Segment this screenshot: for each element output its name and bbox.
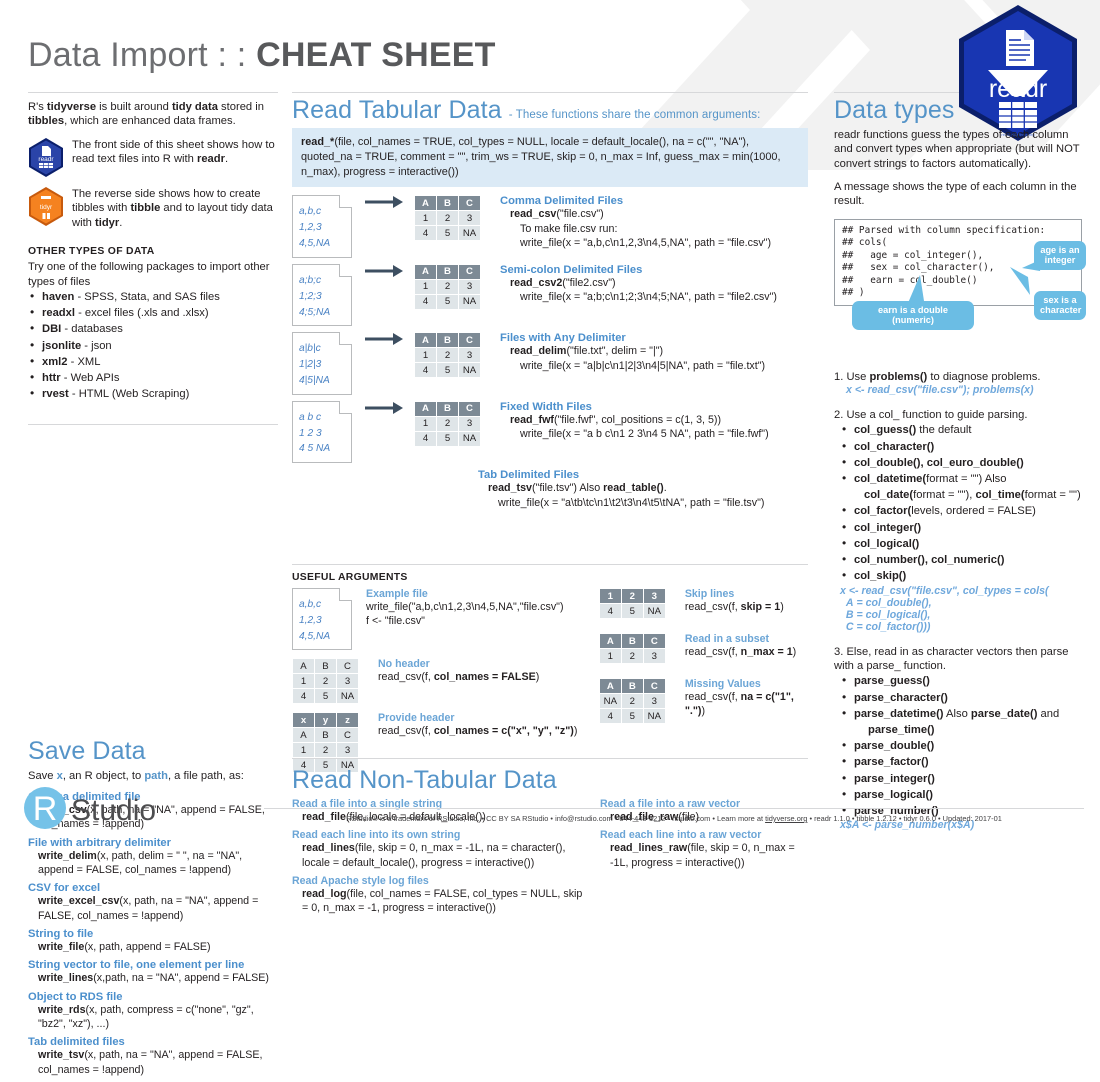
mini-table-header-cell: B <box>437 265 458 279</box>
read-tabular-row-title: Fixed Width Files <box>500 401 808 413</box>
package-desc: - excel files (.xls and .xlsx) <box>75 307 209 319</box>
nontabular-title: Read Apache style log files <box>292 875 590 887</box>
mini-table-cell: 3 <box>459 280 480 294</box>
mini-table-cell: NA <box>337 689 358 703</box>
useful-arguments-heading: USEFUL ARGUMENTS <box>292 572 408 583</box>
read-tabular-row-fn: read_delim("file.txt", delim = "|") <box>500 344 808 358</box>
mini-table-cell: 1 <box>600 649 621 663</box>
mini-table-cell: 3 <box>337 743 358 757</box>
file-line: 1 2 3 <box>299 426 346 442</box>
mini-table-cell: 2 <box>315 674 336 688</box>
footer-link-tidyverse[interactable]: tidyverse.org <box>765 814 807 823</box>
mini-table-cell: 3 <box>337 674 358 688</box>
mini-table-cell: 3 <box>644 694 665 708</box>
parse-fn-name: parse_datetime() <box>854 708 944 720</box>
mini-table-header-cell: y <box>315 713 336 727</box>
arrow-icon <box>364 264 404 278</box>
arrow-icon <box>364 195 404 209</box>
package-desc: - XML <box>68 356 101 368</box>
col-fn-name: col_double(), col_euro_double() <box>854 457 1024 469</box>
save-data-item-label: CSV for excel <box>28 882 278 894</box>
read-tabular-heading: Read Tabular Data - These functions shar… <box>292 96 808 125</box>
mini-table-cell: 5 <box>437 226 458 240</box>
step-2-label: Use a col_ function to guide parsing. <box>846 409 1027 421</box>
parse-fn-name-2: parse_date() <box>971 708 1038 720</box>
read-tabular-row: Tab Delimited Filesread_tsv("file.tsv") … <box>292 469 808 510</box>
data-types-heading: Data types <box>834 96 1082 125</box>
package-name: readxl <box>42 307 75 319</box>
divider-left-top <box>28 92 278 93</box>
col-fn-rest: the default <box>916 424 971 436</box>
mini-table-cell: 1 <box>415 280 436 294</box>
read-tabular-row-extra: write_file(x = "a;b;c\n1;2;3\n4;5;NA", p… <box>500 290 808 304</box>
mini-table-header-cell: B <box>437 333 458 347</box>
parse-fn-item: parse_character() <box>840 690 1082 706</box>
mini-table-cell: 2 <box>315 743 336 757</box>
save-data-item-code: write_file(x, path, append = FALSE) <box>28 940 278 954</box>
divider-save-data <box>28 424 278 425</box>
cheatsheet-page: Data Import : : CHEAT SHEET <box>0 0 1100 850</box>
mini-table-header-cell: A <box>600 634 621 648</box>
save-data-item-code: write_rds(x, path, compress = c("none", … <box>28 1003 278 1032</box>
step-2-code-line: C = col_factor())) <box>840 621 1082 633</box>
mini-table-cell: 3 <box>459 348 480 362</box>
read-tabular-title: Read Tabular Data <box>292 96 502 124</box>
parse-fn-name: parse_double() <box>854 740 934 752</box>
parse-fn-name: parse_factor() <box>854 756 929 768</box>
file-line: 4,5,NA <box>299 236 346 252</box>
save-lead-pre: Save <box>28 770 57 782</box>
page-title-bold: CHEAT SHEET <box>256 36 496 74</box>
col-fn-name: col_datetime( <box>854 473 926 485</box>
step-1-post: to diagnose problems. <box>927 371 1040 383</box>
useful-arg-title: Missing Values <box>685 678 808 690</box>
mini-table-cell: NA <box>600 694 621 708</box>
mini-table: ABCNA2345NA <box>599 678 666 724</box>
useful-arg-code: read_csv(f, skip = 1) <box>685 600 808 614</box>
package-item: DBI - databases <box>28 321 278 337</box>
read-tabular-subtitle: - These functions share the common argum… <box>509 109 761 121</box>
step-1-pre: Use <box>846 371 869 383</box>
callout-sex: sex is a character <box>1034 291 1086 320</box>
col-fn-item: col_skip() <box>840 568 1082 584</box>
package-name: jsonlite <box>42 340 81 352</box>
mini-table-cell: 2 <box>437 280 458 294</box>
mini-table-cell: 2 <box>437 348 458 362</box>
package-name: httr <box>42 372 61 384</box>
mini-table-header-cell: 3 <box>644 589 665 603</box>
save-data-item: CSV for excelwrite_excel_csv(x, path, na… <box>28 882 278 923</box>
mini-table-cell: 1 <box>415 211 436 225</box>
col-fn-name: col_factor( <box>854 505 911 517</box>
read-tabular-row-extra: To make file.csv run: <box>500 222 808 236</box>
parse-fn-item: parse_integer() <box>840 771 1082 787</box>
package-name: haven <box>42 291 74 303</box>
useful-arg-item: ABCNA2345NAMissing Valuesread_csv(f, na … <box>599 678 808 724</box>
mini-table-header-cell: C <box>644 634 665 648</box>
mini-table: ABC12345NA <box>414 401 481 447</box>
mini-table-header-cell: B <box>437 196 458 210</box>
package-desc: - json <box>81 340 111 352</box>
readr-badge-row: readr The front side of this sheet shows… <box>28 137 278 178</box>
arrow-icon <box>364 401 404 415</box>
col-fn-item: col_character() <box>840 439 1082 455</box>
tidyr-badge-text: The reverse side shows how to create tib… <box>72 186 278 231</box>
mini-table-cell: NA <box>644 709 665 723</box>
useful-arg-line: f <- "file.csv" <box>366 614 591 628</box>
rstudio-logo: R Studio <box>22 782 172 834</box>
mini-table-cell: 4 <box>415 295 436 309</box>
page-title-main: Data Import : : <box>28 36 256 74</box>
save-data-item-label: String to file <box>28 928 278 940</box>
col-fn-item: col_integer() <box>840 520 1082 536</box>
mini-table-cell: B <box>315 728 336 742</box>
parse-fn-rest-2: and <box>1037 708 1059 720</box>
nontabular-code: read_log(file, col_names = FALSE, col_ty… <box>292 887 590 916</box>
mini-table-header-cell: B <box>315 659 336 673</box>
mini-table-cell: 3 <box>644 649 665 663</box>
file-icon: a,b,c1,2,34,5,NA <box>292 588 352 650</box>
mini-table-cell: 3 <box>459 417 480 431</box>
col-fn-item: col_logical() <box>840 536 1082 552</box>
callout-earn: earn is a double (numeric) <box>852 301 974 330</box>
col-fn-name: col_logical() <box>854 538 919 550</box>
file-fold-corner <box>339 264 352 277</box>
package-desc: - Web APIs <box>61 372 120 384</box>
package-desc: - HTML (Web Scraping) <box>69 388 190 400</box>
step-1-text: 1. Use problems() to diagnose problems. <box>834 370 1082 384</box>
parse-fn-name: parse_guess() <box>854 675 930 687</box>
save-data-item-code: write_excel_csv(x, path, na = "NA", appe… <box>28 894 278 923</box>
file-line: 1,2,3 <box>299 220 346 236</box>
read-tabular-row-title: Tab Delimited Files <box>478 469 808 481</box>
useful-arg-title: Example file <box>366 588 591 600</box>
mini-table-cell: NA <box>459 432 480 446</box>
read-star-args: (file, col_names = TRUE, col_types = NUL… <box>301 136 780 178</box>
mini-table-cell: 2 <box>622 649 643 663</box>
mini-table-header-cell: C <box>459 402 480 416</box>
mini-table-header-cell: 1 <box>600 589 621 603</box>
step-2-num: 2. <box>834 409 843 421</box>
save-data-heading: Save Data <box>28 737 278 766</box>
left-column: R's tidyverse is built around tidy data … <box>28 100 278 1082</box>
read-tabular-desc: Semi-colon Delimited Filesread_csv2("fil… <box>500 264 808 305</box>
read-tabular-examples: a,b,c1,2,34,5,NAABC12345NAComma Delimite… <box>292 195 808 509</box>
read-tabular-row-extra: write_file(x = "a\tb\tc\n1\t2\t3\n4\t5\t… <box>478 496 808 510</box>
step-1: 1. Use problems() to diagnose problems. … <box>834 370 1082 396</box>
read-tabular-row: a|b|c1|2|34|5|NAABC12345NAFiles with Any… <box>292 332 808 394</box>
step-2-code-line: B = col_logical(), <box>840 609 1082 621</box>
col-fn-item: col_number(), col_numeric() <box>840 552 1082 568</box>
arrow-icon <box>364 332 404 346</box>
step-2-code-line: x <- read_csv("file.csv", col_types = co… <box>840 585 1082 597</box>
page-title: Data Import : : CHEAT SHEET <box>28 36 496 75</box>
read-tabular-desc: Comma Delimited Filesread_csv("file.csv"… <box>500 195 808 250</box>
col-fn-item: col_double(), col_euro_double() <box>840 455 1082 471</box>
other-types-package-list: haven - SPSS, Stata, and SAS filesreadxl… <box>28 289 278 403</box>
useful-arg-item: ABC12345NANo headerread_csv(f, col_names… <box>292 658 591 704</box>
file-icon: a b c1 2 34 5 NA <box>292 401 352 463</box>
mini-table-header-cell: 2 <box>622 589 643 603</box>
parse-fn-name: parse_character() <box>854 692 948 704</box>
mini-table-header-cell: A <box>293 659 314 673</box>
read-tabular-row-extra: write_file(x = "a,b,c\n1,2,3\n4,5,NA", p… <box>500 236 808 250</box>
package-desc: - databases <box>61 323 123 335</box>
mini-table-header-cell: C <box>644 679 665 693</box>
parse-fn-item: parse_double() <box>840 738 1082 754</box>
col-fn-item: col_date(format = ""), col_time(format =… <box>840 487 1082 503</box>
parse-fn-item: parse_datetime() Also parse_date() andpa… <box>840 706 1082 738</box>
col-fn-name: col_guess() <box>854 424 916 436</box>
parse-fn-item: parse_guess() <box>840 673 1082 689</box>
useful-arguments-right: 12345NASkip linesread_csv(f, skip = 1)AB… <box>599 588 808 781</box>
mini-table-cell: 4 <box>415 226 436 240</box>
read-tabular-row: a b c1 2 34 5 NAABC12345NAFixed Width Fi… <box>292 401 808 463</box>
footer-text-b: • readr 1.1.0 • tibble 1.2.12 • tidyr 0.… <box>807 814 1001 823</box>
divider-mid-top <box>292 92 808 93</box>
save-lead-path: path <box>144 770 168 782</box>
save-data-item-label: Tab delimited files <box>28 1036 278 1048</box>
step-2: 2. Use a col_ function to guide parsing.… <box>834 408 1082 633</box>
col-fn-item: col_factor(levels, ordered = FALSE) <box>840 503 1082 519</box>
read-star-signature: read_*(file, col_names = TRUE, col_types… <box>292 128 808 187</box>
mini-table-cell: 4 <box>293 689 314 703</box>
useful-arguments-left: a,b,c1,2,34,5,NAExample filewrite_file("… <box>292 588 591 781</box>
useful-arg-code: read_csv(f, col_names = FALSE) <box>378 670 591 684</box>
mini-table-cell: 5 <box>622 604 643 618</box>
step-2-text: 2. Use a col_ function to guide parsing. <box>834 408 1082 422</box>
mini-table: ABC12345NA <box>414 195 481 241</box>
useful-arguments-grid: a,b,c1,2,34,5,NAExample filewrite_file("… <box>292 588 808 781</box>
file-line: 4,5,NA <box>299 629 346 645</box>
mini-table: ABC12345NA <box>414 264 481 310</box>
mini-table-cell: C <box>337 728 358 742</box>
tidyr-badge-row: tidyr The reverse side shows how to crea… <box>28 186 278 231</box>
readr-mini-hex-icon: readr <box>28 137 64 178</box>
read-star-fn: read_* <box>301 136 334 148</box>
intro-paragraph: R's tidyverse is built around tidy data … <box>28 100 278 129</box>
read-tabular-row-fn: read_csv("file.csv") <box>500 207 808 221</box>
useful-arg-line: write_file("a,b,c\n1,2,3\n4,5,NA","file.… <box>366 600 591 614</box>
useful-arg-item: a,b,c1,2,34,5,NAExample filewrite_file("… <box>292 588 591 650</box>
mini-table-cell: 5 <box>622 709 643 723</box>
mini-table-cell: 4 <box>415 432 436 446</box>
footer-text-a: RStudio® is a trademark of RStudio, Inc.… <box>346 814 765 823</box>
useful-arg-item: ABC123Read in a subsetread_csv(f, n_max … <box>599 633 808 664</box>
mini-table-cell: A <box>293 728 314 742</box>
parse-fn-sub: parse_time() <box>868 724 935 736</box>
save-data-item: Object to RDS filewrite_rds(x, path, com… <box>28 991 278 1032</box>
package-item: xml2 - XML <box>28 354 278 370</box>
save-data-item-code: write_lines(x,path, na = "NA", append = … <box>28 971 278 985</box>
mini-table-cell: 1 <box>293 743 314 757</box>
other-types-lead: Try one of the following packages to imp… <box>28 260 278 289</box>
col-fn-name: col_date( <box>864 489 913 501</box>
mini-table-cell: 2 <box>437 417 458 431</box>
mini-table-cell: 5 <box>437 295 458 309</box>
useful-arg-title: Read in a subset <box>685 633 808 645</box>
step-3-num: 3. <box>834 646 843 658</box>
mini-table-header-cell: C <box>459 333 480 347</box>
mini-table-cell: 5 <box>437 363 458 377</box>
useful-arg-title: Provide header <box>378 712 591 724</box>
mini-table-cell: 4 <box>415 363 436 377</box>
file-line: 1|2|3 <box>299 357 346 373</box>
package-item: jsonlite - json <box>28 338 278 354</box>
divider-useful-args <box>292 564 808 565</box>
read-tabular-desc: Tab Delimited Filesread_tsv("file.tsv") … <box>478 469 808 510</box>
svg-text:readr: readr <box>38 156 54 163</box>
col-fn-name: col_integer() <box>854 522 921 534</box>
callout-earn-tail <box>906 275 928 305</box>
save-data-item-label: String vector to file, one element per l… <box>28 959 278 971</box>
mini-table-cell: NA <box>459 363 480 377</box>
col-fn-name: col_skip() <box>854 570 906 582</box>
useful-arg-title: No header <box>378 658 591 670</box>
mini-table-cell: NA <box>459 295 480 309</box>
parse-fn-name: parse_integer() <box>854 773 935 785</box>
file-line: 1,2,3 <box>299 613 346 629</box>
right-column: Data types readr functions guess the typ… <box>834 96 1082 831</box>
save-data-item-code: write_tsv(x, path, na = "NA", append = F… <box>28 1048 278 1077</box>
mini-table-header-cell: A <box>415 196 436 210</box>
col-fn-rest-2: format = "") <box>1025 489 1081 501</box>
read-tabular-row: a,b,c1,2,34,5,NAABC12345NAComma Delimite… <box>292 195 808 257</box>
useful-arg-code: read_csv(f, na = c("1", ".")) <box>685 690 808 719</box>
file-fold-corner <box>339 588 352 601</box>
file-fold-corner <box>339 195 352 208</box>
nontabular-item: Read Apache style log filesread_log(file… <box>292 875 590 916</box>
col-fn-rest: format = ""), <box>913 489 975 501</box>
svg-text:R: R <box>33 790 58 828</box>
mini-table-header-cell: x <box>293 713 314 727</box>
readr-badge-text: The front side of this sheet shows how t… <box>72 137 278 167</box>
mini-table-cell: 4 <box>600 709 621 723</box>
mini-table-cell: 2 <box>437 211 458 225</box>
useful-arg-code: read_csv(f, col_names = c("x", "y", "z")… <box>378 724 591 738</box>
mini-table-cell: 5 <box>315 689 336 703</box>
package-name: xml2 <box>42 356 68 368</box>
useful-arg-item: xyzABC12345NAProvide headerread_csv(f, c… <box>292 712 591 773</box>
mini-table-cell: NA <box>644 604 665 618</box>
file-line: 1;2;3 <box>299 289 346 305</box>
mini-table-header-cell: C <box>337 659 358 673</box>
read-tabular-row-title: Files with Any Delimiter <box>500 332 808 344</box>
package-desc: - SPSS, Stata, and SAS files <box>74 291 220 303</box>
footer-text: RStudio® is a trademark of RStudio, Inc.… <box>264 814 1084 824</box>
step-1-num: 1. <box>834 371 843 383</box>
step-3-label: Else, read in as character vectors then … <box>834 646 1068 672</box>
read-tabular-row-fn: read_csv2("file2.csv") <box>500 276 808 290</box>
step-1-bold: problems() <box>869 371 927 383</box>
save-data-item: Tab delimited fileswrite_tsv(x, path, na… <box>28 1036 278 1077</box>
file-icon: a;b;c1;2;34;5;NA <box>292 264 352 326</box>
middle-column: Read Tabular Data - These functions shar… <box>292 96 808 510</box>
useful-arg-code: read_csv(f, n_max = 1) <box>685 645 808 659</box>
package-item: readxl - excel files (.xls and .xlsx) <box>28 305 278 321</box>
mini-table-header-cell: A <box>415 265 436 279</box>
file-line: 4|5|NA <box>299 373 346 389</box>
mini-table: xyzABC12345NA <box>292 712 359 773</box>
save-lead-mid: , an R object, to <box>63 770 144 782</box>
read-tabular-desc: Files with Any Delimiterread_delim("file… <box>500 332 808 373</box>
package-item: rvest - HTML (Web Scraping) <box>28 386 278 402</box>
col-fn-name-2: col_time( <box>975 489 1024 501</box>
tidyr-mini-hex-icon: tidyr <box>28 186 64 227</box>
col-fn-rest: levels, ordered = FALSE) <box>911 505 1036 517</box>
mini-table-cell: 1 <box>415 417 436 431</box>
data-types-para1: readr functions guess the types of each … <box>834 128 1082 171</box>
mini-table-header-cell: A <box>415 402 436 416</box>
package-name: rvest <box>42 388 69 400</box>
mini-table-header-cell: A <box>415 333 436 347</box>
read-tabular-row-extra: write_file(x = "a b c\n1 2 3\n4 5 NA", p… <box>500 427 808 441</box>
mini-table: ABC123 <box>599 633 666 664</box>
file-fold-corner <box>339 401 352 414</box>
step-3-text: 3. Else, read in as character vectors th… <box>834 645 1082 674</box>
col-fn-item: col_datetime(format = "") Also <box>840 471 1082 487</box>
file-icon: a,b,c1,2,34,5,NA <box>292 195 352 257</box>
mini-table-header-cell: C <box>459 196 480 210</box>
parse-fn-item: parse_factor() <box>840 754 1082 770</box>
callout-sex-tail <box>1006 267 1032 297</box>
mini-table-header-cell: z <box>337 713 358 727</box>
read-tabular-row-fn: read_fwf("file.fwf", col_positions = c(1… <box>500 413 808 427</box>
read-tabular-row: a;b;c1;2;34;5;NAABC12345NASemi-colon Del… <box>292 264 808 326</box>
read-tabular-desc: Fixed Width Filesread_fwf("file.fwf", co… <box>500 401 808 442</box>
file-icon: a|b|c1|2|34|5|NA <box>292 332 352 394</box>
save-lead-post: , a file path, as: <box>168 770 244 782</box>
save-data-item-label: Object to RDS file <box>28 991 278 1003</box>
mini-table-header-cell: C <box>459 265 480 279</box>
mini-table-cell: 2 <box>622 694 643 708</box>
col-fn-rest: format = "") Also <box>926 473 1006 485</box>
package-item: httr - Web APIs <box>28 370 278 386</box>
mini-table-cell: NA <box>459 226 480 240</box>
file-line: 4 5 NA <box>299 441 346 457</box>
col-fn-item: col_guess() the default <box>840 422 1082 438</box>
mini-table: 12345NA <box>599 588 666 619</box>
useful-arg-item: 12345NASkip linesread_csv(f, skip = 1) <box>599 588 808 619</box>
mini-table: ABC12345NA <box>414 332 481 378</box>
mini-table-cell: 1 <box>293 674 314 688</box>
mini-table-header-cell: B <box>622 634 643 648</box>
mini-table: ABC12345NA <box>292 658 359 704</box>
data-types-para2: A message shows the type of each column … <box>834 180 1082 209</box>
divider-nontabular <box>292 758 808 759</box>
mini-table-cell: 3 <box>459 211 480 225</box>
svg-text:Studio: Studio <box>71 794 156 827</box>
read-tabular-row-title: Semi-colon Delimited Files <box>500 264 808 276</box>
footer: R Studio RStudio® is a trademark of RStu… <box>0 790 1100 850</box>
useful-arg-title: Skip lines <box>685 588 808 600</box>
read-tabular-row-fn: read_tsv("file.tsv") Also read_table(). <box>478 481 808 495</box>
save-data-item: String to filewrite_file(x, path, append… <box>28 928 278 954</box>
svg-text:tidyr: tidyr <box>40 204 53 211</box>
read-tabular-row-extra: write_file(x = "a|b|c\n1|2|3\n4|5|NA", p… <box>500 359 808 373</box>
save-data-item: String vector to file, one element per l… <box>28 959 278 985</box>
mini-table-cell: 4 <box>600 604 621 618</box>
step-1-code: x <- read_csv("file.csv"); problems(x) <box>846 384 1082 396</box>
step-2-list: col_guess() the defaultcol_character()co… <box>840 422 1082 584</box>
footer-divider <box>264 808 1084 809</box>
mini-table-header-cell: A <box>600 679 621 693</box>
file-line: 4;5;NA <box>299 305 346 321</box>
col-fn-name: col_character() <box>854 441 934 453</box>
package-name: DBI <box>42 323 61 335</box>
mini-table-cell: 1 <box>415 348 436 362</box>
step-2-code-line: A = col_double(), <box>840 597 1082 609</box>
